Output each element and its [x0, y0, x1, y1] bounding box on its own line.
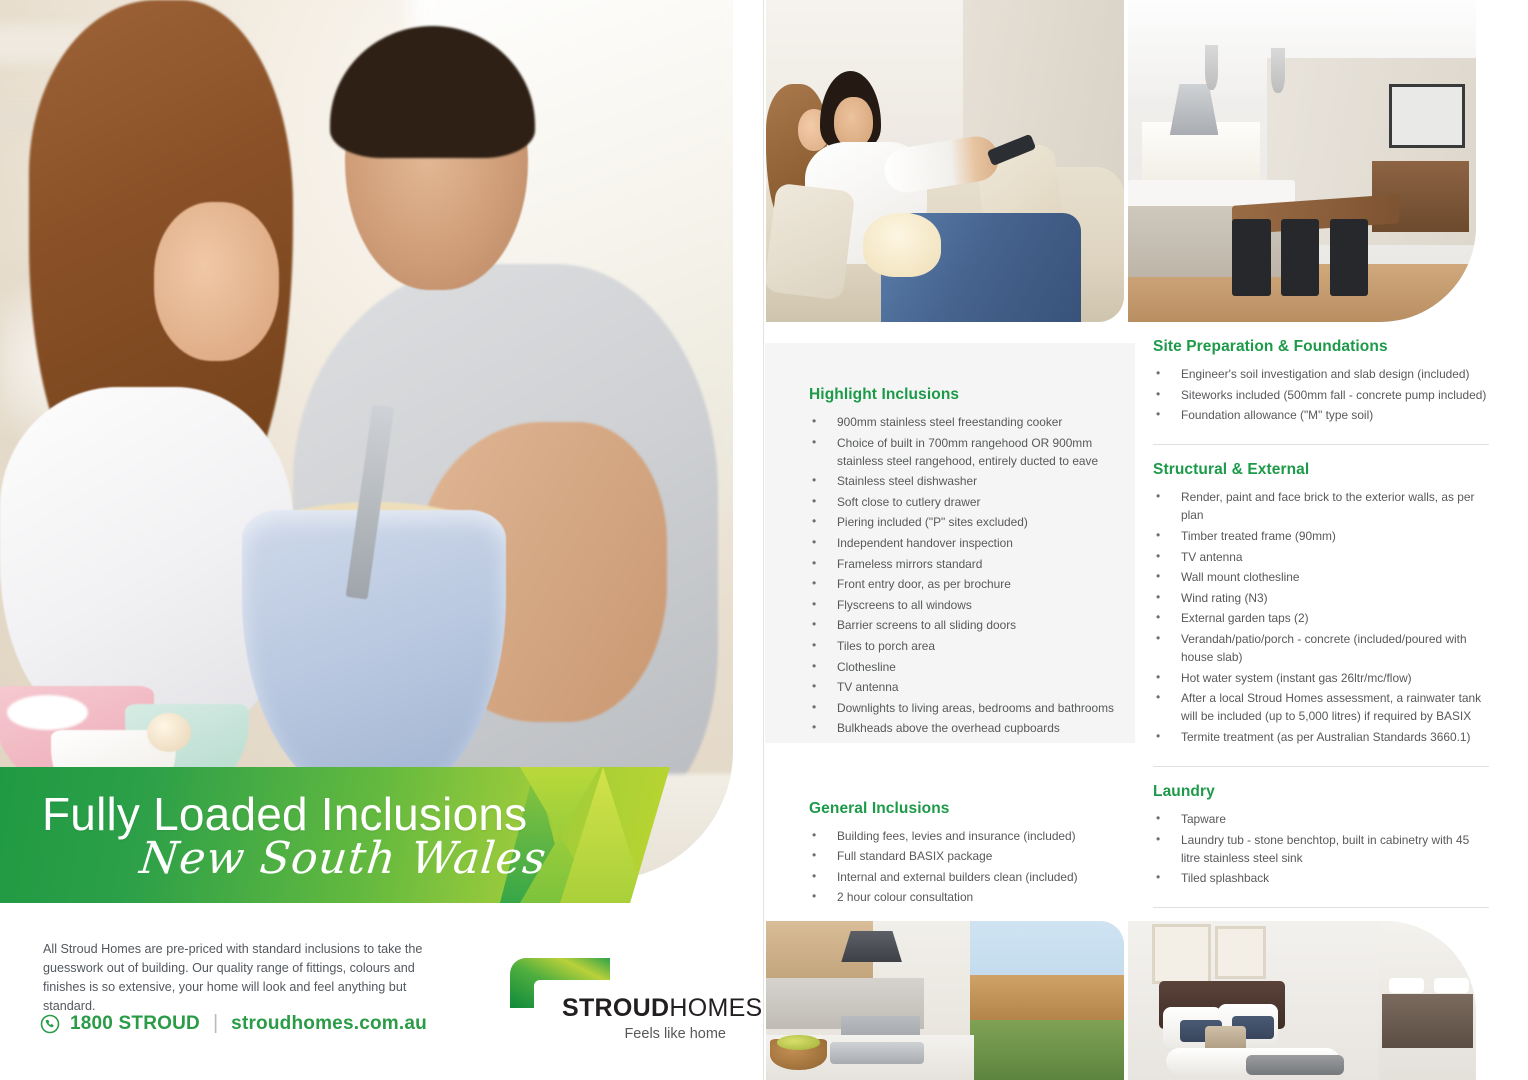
- section-title: Structural & External: [1153, 461, 1489, 479]
- list-item: Tiles to porch area: [809, 637, 1139, 655]
- list-item: Timber treated frame (90mm): [1153, 527, 1489, 545]
- phone-circle-icon: [40, 1014, 60, 1034]
- list-item: TV antenna: [1153, 548, 1489, 566]
- logo-homes: HOMES: [669, 994, 762, 1022]
- list-item: Tapware: [1153, 810, 1489, 828]
- site-preparation-list: Engineer's soil investigation and slab d…: [1153, 365, 1489, 424]
- logo-tagline: Feels like home: [624, 1026, 726, 1042]
- section-title: Highlight Inclusions: [809, 386, 1139, 404]
- list-item: Internal and external builders clean (in…: [809, 868, 1139, 886]
- list-item: Engineer's soil investigation and slab d…: [1153, 365, 1489, 383]
- section-highlight-inclusions: Highlight Inclusions 900mm stainless ste…: [809, 386, 1139, 738]
- family-baking-photo: [0, 0, 733, 880]
- list-item: Termite treatment (as per Australian Sta…: [1153, 728, 1489, 746]
- list-item: Wind rating (N3): [1153, 589, 1489, 607]
- list-item: 2 hour colour consultation: [809, 888, 1139, 906]
- logo-wordmark: STROUDHOMES: [562, 994, 763, 1023]
- list-item: Independent handover inspection: [809, 534, 1139, 552]
- list-item: 900mm stainless steel freestanding cooke…: [809, 413, 1139, 431]
- section-title: Site Preparation & Foundations: [1153, 338, 1489, 356]
- couple-watching-tv-photo: [766, 0, 1124, 322]
- contact-divider: |: [213, 1012, 218, 1035]
- list-item: Stainless steel dishwasher: [809, 472, 1139, 490]
- list-item: Hot water system (instant gas 26ltr/mc/f…: [1153, 669, 1489, 687]
- list-item: Choice of built in 700mm rangehood OR 90…: [809, 434, 1139, 470]
- list-item: Flyscreens to all windows: [809, 596, 1139, 614]
- list-item: Wall mount clothesline: [1153, 568, 1489, 586]
- left-content-column: Highlight Inclusions 900mm stainless ste…: [809, 386, 1139, 926]
- kitchen-dining-room-photo: [1128, 0, 1476, 322]
- section-site-preparation: Site Preparation & Foundations Engineer'…: [1153, 338, 1489, 424]
- right-page: Highlight Inclusions 900mm stainless ste…: [764, 0, 1528, 1080]
- contact-row: 1800 STROUD | stroudhomes.com.au: [40, 1012, 427, 1035]
- list-item: External garden taps (2): [1153, 609, 1489, 627]
- section-general-inclusions: General Inclusions Building fees, levies…: [809, 800, 1139, 907]
- banner-subtitle: New South Wales: [137, 833, 549, 884]
- section-laundry: Laundry Tapware Laundry tub - stone benc…: [1153, 783, 1489, 887]
- highlight-inclusions-list: 900mm stainless steel freestanding cooke…: [809, 413, 1139, 738]
- footer-blurb: All Stroud Homes are pre-priced with sta…: [43, 940, 453, 1017]
- stroud-homes-logo: STROUDHOMES Feels like home: [510, 958, 726, 1046]
- section-divider: [1153, 444, 1489, 445]
- list-item: Piering included ("P" sites excluded): [809, 513, 1139, 531]
- left-page: Fully Loaded Inclusions New South Wales …: [0, 0, 763, 1080]
- list-item: Building fees, levies and insurance (inc…: [809, 827, 1139, 845]
- structural-external-list: Render, paint and face brick to the exte…: [1153, 488, 1489, 746]
- section-structural-external: Structural & External Render, paint and …: [1153, 461, 1489, 746]
- laundry-list: Tapware Laundry tub - stone benchtop, bu…: [1153, 810, 1489, 887]
- list-item: Downlights to living areas, bedrooms and…: [809, 699, 1139, 717]
- brochure-page: Fully Loaded Inclusions New South Wales …: [0, 0, 1528, 1080]
- list-item: Front entry door, as per brochure: [809, 575, 1139, 593]
- section-title: General Inclusions: [809, 800, 1139, 818]
- right-content-column: Site Preparation & Foundations Engineer'…: [1153, 338, 1489, 989]
- section-divider: [1153, 766, 1489, 767]
- list-item: Siteworks included (500mm fall - concret…: [1153, 386, 1489, 404]
- title-banner: Fully Loaded Inclusions New South Wales: [0, 767, 670, 903]
- kitchen-alfresco-photo: [766, 921, 1124, 1080]
- website-link[interactable]: stroudhomes.com.au: [231, 1013, 427, 1035]
- section-title: Laundry: [1153, 783, 1489, 801]
- phone-number[interactable]: 1800 STROUD: [70, 1013, 200, 1035]
- list-item: Verandah/patio/porch - concrete (include…: [1153, 630, 1489, 666]
- list-item: After a local Stroud Homes assessment, a…: [1153, 689, 1489, 725]
- bedroom-ensuite-photo: [1128, 921, 1476, 1080]
- section-divider: [1153, 907, 1489, 908]
- general-inclusions-list: Building fees, levies and insurance (inc…: [809, 827, 1139, 907]
- list-item: Soft close to cutlery drawer: [809, 493, 1139, 511]
- list-item: Bulkheads above the overhead cupboards: [809, 719, 1139, 737]
- list-item: Full standard BASIX package: [809, 847, 1139, 865]
- list-item: TV antenna: [809, 678, 1139, 696]
- list-item: Barrier screens to all sliding doors: [809, 616, 1139, 634]
- list-item: Foundation allowance ("M" type soil): [1153, 406, 1489, 424]
- list-item: Render, paint and face brick to the exte…: [1153, 488, 1489, 524]
- list-item: Tiled splashback: [1153, 869, 1489, 887]
- list-item: Clothesline: [809, 658, 1139, 676]
- list-item: Laundry tub - stone benchtop, built in c…: [1153, 831, 1489, 867]
- list-item: Frameless mirrors standard: [809, 555, 1139, 573]
- logo-stroud: STROUD: [562, 994, 669, 1022]
